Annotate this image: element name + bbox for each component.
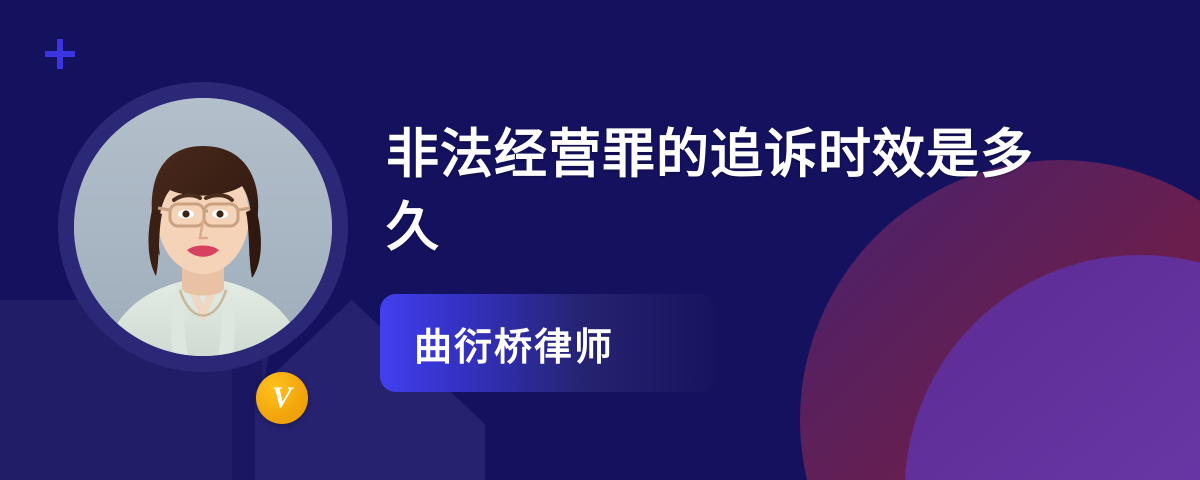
avatar-photo [74,98,332,356]
avatar: V [58,82,348,372]
plus-icon [42,36,78,72]
banner-content: 非法经营罪的追诉时效是多久 [386,118,1086,264]
page-title: 非法经营罪的追诉时效是多久 [386,118,1086,264]
lawyer-name-button[interactable]: 曲衍桥律师 [380,294,716,392]
lawyer-promo-banner: V 非法经营罪的追诉时效是多久 曲衍桥律师 [0,0,1200,480]
verified-badge-icon: V [256,372,308,424]
verified-badge-letter: V [272,383,292,413]
background-circle-inner [905,255,1200,480]
